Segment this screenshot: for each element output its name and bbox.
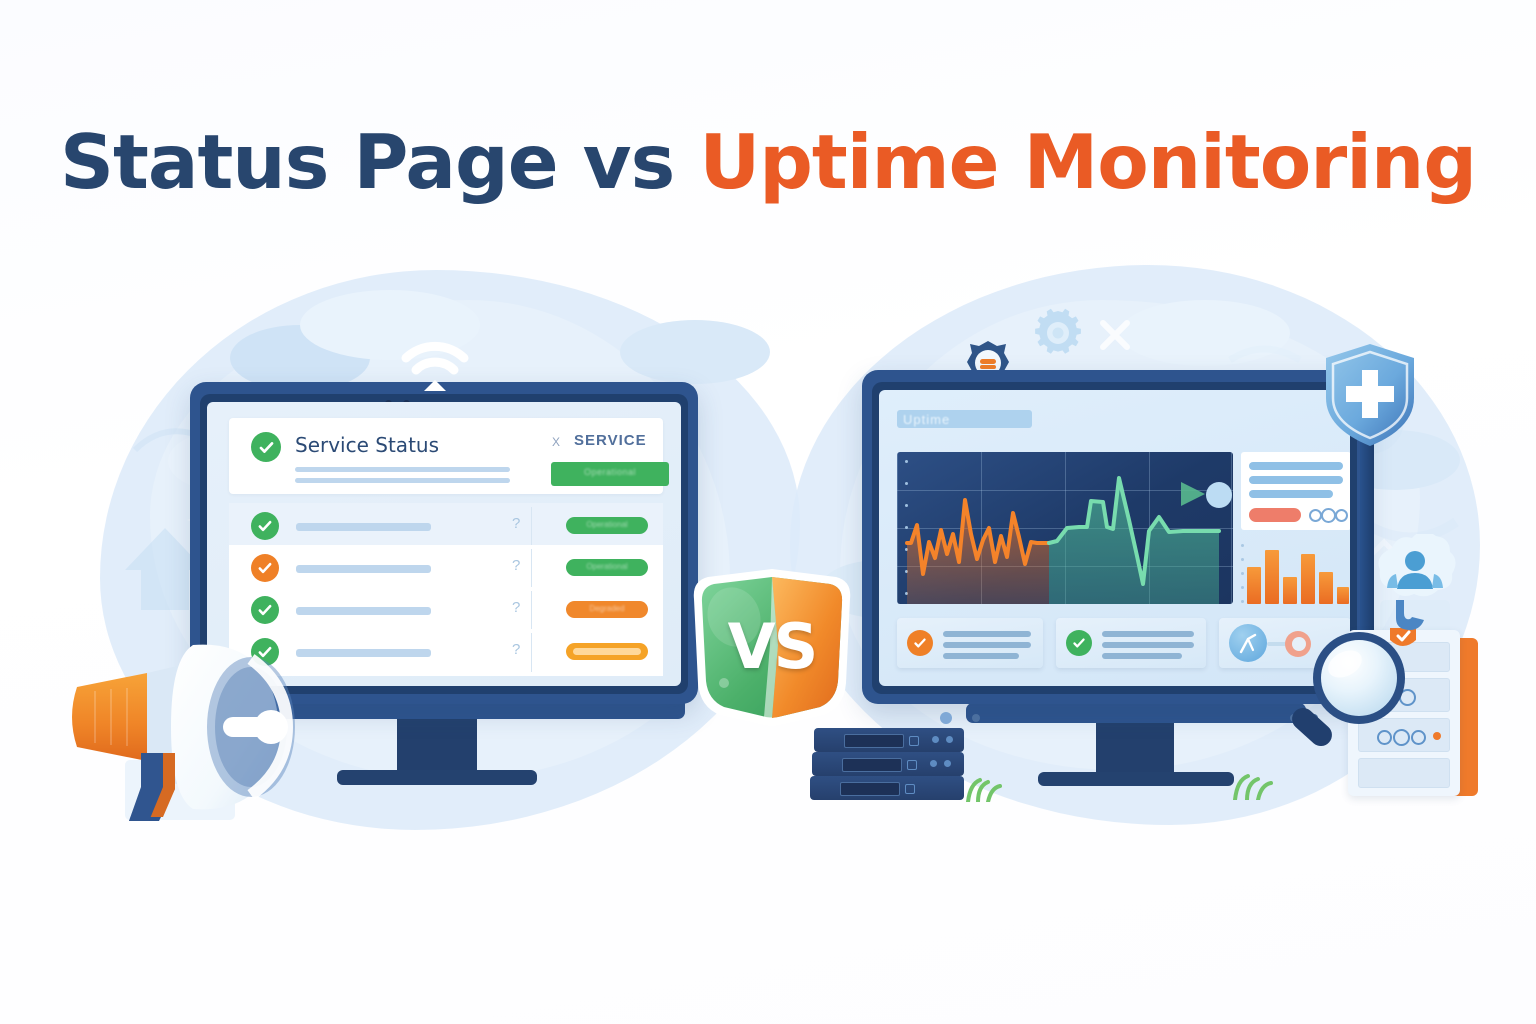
row-meta: ?: [512, 641, 520, 658]
server-led: [930, 760, 937, 767]
placeholder-line: [943, 631, 1031, 637]
placeholder-line: [1102, 631, 1194, 637]
placeholder-line: [1102, 653, 1182, 659]
gear-icon: [1030, 305, 1086, 361]
clipboard-row: [1358, 758, 1450, 788]
server-unit: [812, 752, 964, 776]
row-divider: [531, 507, 532, 546]
response-time-chart: [897, 452, 1233, 604]
status-card[interactable]: [897, 618, 1043, 668]
server-stack-icon: [810, 728, 980, 804]
header-status-badge-label: Operational: [551, 467, 669, 477]
page-title-left: Status Page vs: [60, 118, 699, 206]
server-handle: [907, 760, 917, 770]
status-card[interactable]: [1056, 618, 1206, 668]
status-ok-icon: [1066, 630, 1092, 656]
server-led: [946, 736, 953, 743]
brand-label: SERVICE: [574, 432, 647, 449]
placeholder-line: [296, 607, 431, 615]
server-slot: [842, 758, 902, 772]
vs-badge-label: VS: [686, 565, 858, 727]
alert-dot: [1433, 732, 1441, 740]
magnifier-icon: [1283, 626, 1419, 762]
placeholder-line: [295, 467, 510, 472]
server-handle: [905, 784, 915, 794]
bar: [1301, 554, 1315, 604]
status-badge-label: Operational: [566, 562, 648, 571]
row-divider: [531, 633, 532, 672]
server-slot: [840, 782, 900, 796]
sparkle-icon: [1095, 315, 1135, 355]
placeholder-line: [1249, 490, 1333, 498]
gauge-icon: [1229, 624, 1267, 662]
barchart-axis-ticks: [1241, 544, 1244, 600]
server-led: [944, 760, 951, 767]
brand-mark-icon: X: [552, 435, 561, 449]
cloud-decoration: [620, 320, 770, 384]
placeholder-line: [943, 642, 1031, 648]
wifi-icon: [400, 336, 470, 396]
monitor-led-right: [940, 712, 952, 724]
status-ok-icon: [251, 512, 279, 540]
placeholder-line: [1102, 642, 1194, 648]
bar: [1247, 567, 1261, 604]
security-shield-icon: [1322, 342, 1418, 448]
row-meta: ?: [512, 599, 520, 616]
page-title-right: Uptime Monitoring: [699, 118, 1476, 206]
status-warning-icon: [251, 554, 279, 582]
placeholder-line: [1249, 476, 1343, 484]
server-handle: [909, 736, 919, 746]
user-bubble-icon: [1372, 534, 1458, 604]
placeholder-line: [1249, 462, 1343, 470]
placeholder-line: [296, 523, 431, 531]
placeholder-line: [296, 565, 431, 573]
monitor-stand-neck-left: [397, 712, 477, 774]
usage-bar-chart: [1241, 540, 1350, 604]
server-led: [932, 736, 939, 743]
row-divider: [531, 591, 532, 630]
placeholder-line: [295, 478, 510, 483]
grass-decoration: [1225, 768, 1285, 800]
dashboard-side-panel: [1241, 452, 1350, 530]
page-title: Status Page vs Uptime Monitoring: [0, 118, 1536, 206]
status-ok-icon: [251, 432, 281, 462]
illustration-canvas: Status Page vs Uptime Monitoring Service…: [0, 0, 1536, 1024]
bar: [1337, 587, 1349, 604]
status-badge-label: Degraded: [566, 604, 648, 613]
status-badge-inner: [573, 648, 641, 655]
table-row[interactable]: ? Operational: [229, 545, 663, 592]
vs-badge: VS: [686, 565, 858, 727]
service-status-header-card: Service Status X SERVICE Operational: [229, 418, 663, 494]
service-status-heading: Service Status: [295, 433, 439, 457]
monitor-stand-base-left: [337, 770, 537, 785]
server-slot: [844, 734, 904, 748]
placeholder-line: [943, 653, 1019, 659]
status-warning-icon: [907, 630, 933, 656]
row-meta: ?: [512, 557, 520, 574]
monitor-stand-neck-right: [1096, 718, 1174, 776]
bar: [1283, 577, 1297, 604]
server-unit: [814, 728, 964, 752]
uptime-dashboard-screen: Uptime: [879, 390, 1350, 686]
dashboard-heading: Uptime: [903, 412, 950, 427]
status-ring-icon: [1335, 509, 1348, 522]
monitor-led-right-2: [972, 714, 980, 722]
row-divider: [531, 549, 532, 588]
server-unit: [810, 776, 964, 800]
chart-series-canvas: [897, 452, 1233, 604]
status-ring-icon: [1321, 508, 1336, 523]
megaphone-icon: [55, 625, 345, 825]
table-row[interactable]: ? Operational: [229, 503, 663, 550]
status-badge-label: Operational: [566, 520, 648, 529]
bar: [1265, 550, 1279, 604]
monitor-stand-bar-right: [966, 703, 1306, 723]
monitor-stand-base-right: [1038, 772, 1234, 786]
status-ok-icon: [251, 596, 279, 624]
bar: [1319, 572, 1333, 604]
alert-bar: [1249, 508, 1301, 522]
row-meta: ?: [512, 515, 520, 532]
